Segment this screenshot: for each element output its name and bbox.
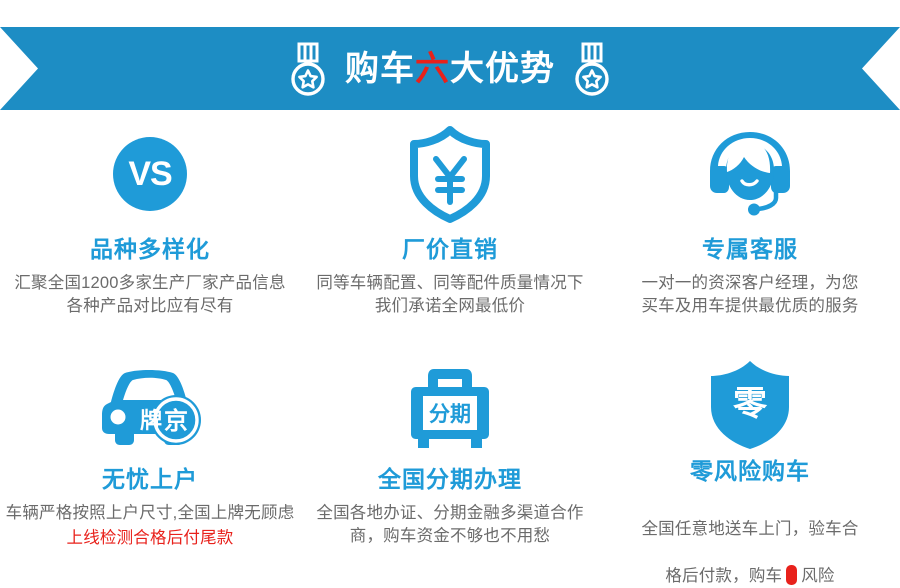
feature-title: 无忧上户: [102, 468, 198, 491]
icon-container: [700, 118, 800, 230]
feature-description: 汇聚全国1200多家生产厂家产品信息 各种产品对比应有尽有: [14, 272, 285, 319]
feature-description: 全国各地办证、分期金融多渠道合作 商，购车资金不够也不用愁: [316, 502, 583, 549]
page-title: 购车六大优势: [345, 52, 555, 86]
features-row-1: VS 品种多样化 汇聚全国1200多家生产厂家产品信息 各种产品对比应有尽有: [0, 118, 900, 356]
feature-title: 零风险购车: [690, 460, 810, 483]
feature-title: 全国分期办理: [378, 468, 522, 491]
banner-title-highlight: 六: [415, 50, 450, 88]
icon-container: VS: [113, 118, 187, 230]
feature-description: 同等车辆配置、同等配件质量情况下 我们承诺全网最低价: [316, 272, 583, 319]
zero-risk-desc-line1: 全国任意地送车上门，验车合: [641, 520, 858, 538]
svg-text:牌: 牌: [140, 408, 162, 433]
briefcase-installment-icon: 分期: [398, 363, 502, 453]
headset-operator-icon: [700, 124, 800, 224]
icon-container: 分期: [398, 356, 502, 460]
zero-badge-icon: [786, 565, 797, 585]
feature-card-registration: 牌 京 无忧上户 车辆严格按照上户尺寸,全国上牌无顾虑 上线检测合格后付尾款: [0, 356, 300, 588]
feature-description: 全国任意地送车上门，验车合 格后付款，购车风险: [641, 494, 858, 588]
feature-description: 车辆严格按照上户尺寸,全国上牌无顾虑: [6, 502, 295, 525]
feature-title: 专属客服: [702, 238, 798, 261]
feature-card-zero-risk: 零 零风险购车 全国任意地送车上门，验车合 格后付款，购车风险: [600, 356, 900, 588]
feature-card-variety: VS 品种多样化 汇聚全国1200多家生产厂家产品信息 各种产品对比应有尽有: [0, 118, 300, 356]
feature-extra-note: 上线检测合格后付尾款: [67, 527, 234, 550]
feature-card-dedicated-service: 专属客服 一对一的资深客户经理，为您 买车及用车提供最优质的服务: [600, 118, 900, 356]
feature-description: 一对一的资深客户经理，为您 买车及用车提供最优质的服务: [641, 272, 858, 319]
medal-icon: [569, 41, 615, 97]
banner-title-prefix: 购车: [345, 50, 415, 88]
svg-text:分期: 分期: [429, 403, 471, 426]
icon-container: 牌 京: [95, 356, 205, 460]
car-license-plate-icon: 牌 京: [95, 362, 205, 454]
feature-card-factory-price: 厂价直销 同等车辆配置、同等配件质量情况下 我们承诺全网最低价: [300, 118, 600, 356]
header-banner: 购车六大优势: [0, 27, 900, 110]
vs-circle-icon: VS: [113, 137, 187, 211]
banner-title-suffix: 大优势: [450, 50, 555, 88]
vs-icon-label: VS: [128, 157, 171, 191]
medal-icon: [285, 41, 331, 97]
icon-container: 零: [704, 356, 796, 452]
zero-risk-desc-line2b: 风险: [801, 567, 834, 585]
shield-zero-icon: 零: [704, 357, 796, 451]
features-row-2: 牌 京 无忧上户 车辆严格按照上户尺寸,全国上牌无顾虑 上线检测合格后付尾款 分…: [0, 356, 900, 588]
features-grid: VS 品种多样化 汇聚全国1200多家生产厂家产品信息 各种产品对比应有尽有: [0, 118, 900, 588]
svg-text:零: 零: [733, 385, 768, 423]
icon-container: [404, 118, 496, 230]
feature-title: 厂价直销: [402, 238, 498, 261]
feature-title: 品种多样化: [90, 238, 210, 261]
feature-card-installment: 分期 全国分期办理 全国各地办证、分期金融多渠道合作 商，购车资金不够也不用愁: [300, 356, 600, 588]
banner-content: 购车六大优势: [0, 27, 900, 110]
shield-yuan-icon: [404, 124, 496, 224]
zero-risk-desc-line2a: 格后付款，购车: [665, 567, 782, 585]
svg-text:京: 京: [164, 407, 188, 435]
